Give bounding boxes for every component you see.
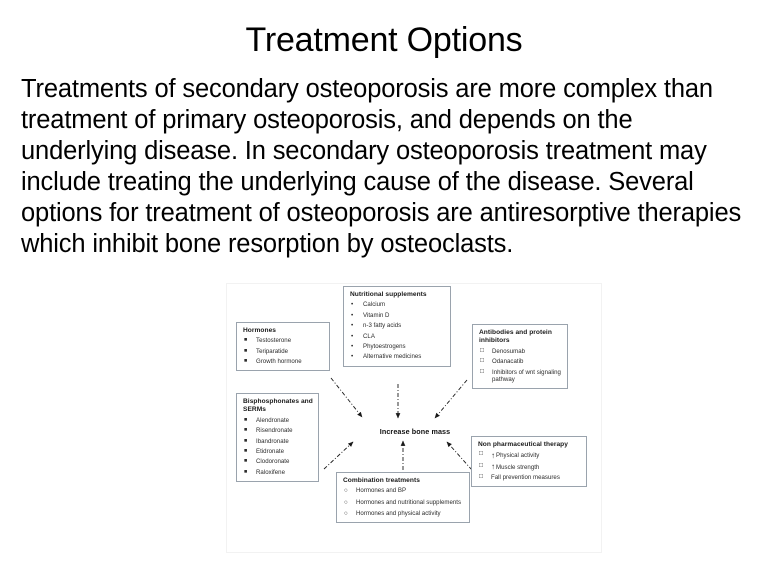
bullet-hollow-circle-icon: ○: [344, 499, 348, 506]
list-item: ■Risendronate: [243, 427, 313, 434]
treatment-options-diagram: Hormones ■Testosterone ■Teriparatide ■Gr…: [226, 283, 602, 553]
list-item-label: Growth hormone: [256, 358, 302, 365]
list-item: ■Testosterone: [243, 337, 324, 344]
bullet-filled-circle-icon: •: [351, 353, 353, 360]
list-item: ■Alendronate: [243, 417, 313, 424]
box-list: □↑Physical activity □↑Muscle strength □F…: [478, 451, 581, 481]
diagram-box-combination-treatments: Combination treatments ○Hormones and BP …: [336, 472, 470, 523]
box-title: Nutritional supplements: [350, 291, 445, 299]
arrow-antibodies-to-center: [435, 380, 467, 418]
list-item-label: Denosumab: [492, 348, 525, 355]
list-item-label: Vitamin D: [363, 312, 389, 319]
list-item-label: n-3 fatty acids: [363, 322, 401, 329]
bullet-hollow-square-icon: □: [479, 451, 483, 458]
list-item-label: Risendronate: [256, 427, 293, 434]
bullet-filled-circle-icon: •: [351, 343, 353, 350]
list-item-label: Testosterone: [256, 337, 291, 344]
list-item: ■Ibandronate: [243, 438, 313, 445]
list-item-label: CLA: [363, 333, 375, 340]
slide-body-text: Treatments of secondary osteoporosis are…: [21, 74, 753, 260]
diagram-box-non-pharmaceutical-therapy: Non pharmaceutical therapy □↑Physical ac…: [471, 436, 587, 487]
bullet-filled-square-icon: ■: [244, 448, 247, 455]
list-item-label: Odanacatib: [492, 358, 523, 365]
bullet-filled-square-icon: ■: [244, 337, 247, 344]
bullet-hollow-circle-icon: ○: [344, 510, 348, 517]
box-title: Hormones: [243, 327, 324, 335]
bullet-hollow-square-icon: □: [480, 369, 484, 376]
list-item-label: Alendronate: [256, 417, 289, 424]
diagram-center-label: Increase bone mass: [339, 427, 491, 436]
list-item-label: Phytoestrogens: [363, 343, 406, 350]
arrow-bisphosphonates-to-center: [324, 442, 353, 469]
bullet-filled-circle-icon: •: [351, 312, 353, 319]
list-item: ○Hormones and physical activity: [343, 510, 464, 517]
list-item-label: Hormones and physical activity: [356, 510, 441, 517]
arrow-hormones-to-center: [331, 378, 362, 417]
bullet-hollow-square-icon: □: [479, 463, 483, 470]
page-title: Treatment Options: [0, 20, 768, 60]
list-item: ■Teriparatide: [243, 348, 324, 355]
bullet-filled-square-icon: ■: [244, 348, 247, 355]
list-item: □↑Muscle strength: [478, 463, 581, 471]
box-title: Bisphosphonates and SERMs: [243, 398, 313, 415]
list-item: ■Etidronate: [243, 448, 313, 455]
list-item-label: Hormones and nutritional supplements: [356, 499, 461, 506]
list-item: □Odanacatib: [479, 358, 562, 365]
bullet-filled-square-icon: ■: [244, 458, 247, 465]
list-item-label: Hormones and BP: [356, 487, 406, 494]
list-item: •Alternative medicines: [350, 353, 445, 360]
list-item-label: Raloxifene: [256, 469, 285, 476]
list-item-label: Physical activity: [496, 452, 539, 459]
list-item: □↑Physical activity: [478, 451, 581, 459]
arrow-nonpharma-to-center: [447, 442, 472, 470]
box-list: ■Testosterone ■Teriparatide ■Growth horm…: [243, 337, 324, 365]
bullet-hollow-square-icon: □: [479, 474, 483, 481]
bullet-filled-circle-icon: •: [351, 333, 353, 340]
list-item: ■Raloxifene: [243, 469, 313, 476]
list-item-label: Fall prevention measures: [491, 474, 560, 481]
list-item: □Inhibitors of wnt signaling pathway: [479, 369, 562, 383]
list-item: ○Hormones and nutritional supplements: [343, 499, 464, 506]
box-list: •Calcium •Vitamin D •n-3 fatty acids •CL…: [350, 301, 445, 360]
list-item: ■Growth hormone: [243, 358, 324, 365]
bullet-filled-square-icon: ■: [244, 417, 247, 424]
diagram-box-antibodies-protein-inhibitors: Antibodies and protein inhibitors □Denos…: [472, 324, 568, 389]
list-item-label: Inhibitors of wnt signaling pathway: [492, 369, 561, 383]
bullet-filled-circle-icon: •: [351, 322, 353, 329]
bullet-filled-square-icon: ■: [244, 438, 247, 445]
list-item: •n-3 fatty acids: [350, 322, 445, 329]
list-item-label: Teriparatide: [256, 348, 288, 355]
list-item: ■Clodoronate: [243, 458, 313, 465]
box-title: Antibodies and protein inhibitors: [479, 329, 562, 346]
bullet-filled-square-icon: ■: [244, 358, 247, 365]
list-item: □Fall prevention measures: [478, 474, 581, 481]
list-item: •Phytoestrogens: [350, 343, 445, 350]
list-item-label: Clodoronate: [256, 458, 289, 465]
box-list: ■Alendronate ■Risendronate ■Ibandronate …: [243, 417, 313, 476]
list-item: □Denosumab: [479, 348, 562, 355]
bullet-hollow-circle-icon: ○: [344, 487, 348, 494]
up-arrow-icon: ↑: [491, 451, 495, 460]
list-item: ○Hormones and BP: [343, 487, 464, 494]
box-list: ○Hormones and BP ○Hormones and nutrition…: [343, 487, 464, 517]
bullet-hollow-square-icon: □: [480, 358, 484, 365]
box-title: Combination treatments: [343, 477, 464, 485]
list-item: •Vitamin D: [350, 312, 445, 319]
box-title: Non pharmaceutical therapy: [478, 441, 581, 449]
diagram-box-bisphosphonates-serms: Bisphosphonates and SERMs ■Alendronate ■…: [236, 393, 319, 482]
list-item: •CLA: [350, 333, 445, 340]
list-item-label: Alternative medicines: [363, 353, 421, 360]
list-item-label: Calcium: [363, 301, 385, 308]
box-list: □Denosumab □Odanacatib □Inhibitors of wn…: [479, 348, 562, 383]
bullet-filled-square-icon: ■: [244, 469, 247, 476]
diagram-box-hormones: Hormones ■Testosterone ■Teriparatide ■Gr…: [236, 322, 330, 371]
list-item-label: Etidronate: [256, 448, 284, 455]
list-item: •Calcium: [350, 301, 445, 308]
bullet-hollow-square-icon: □: [480, 348, 484, 355]
bullet-filled-square-icon: ■: [244, 427, 247, 434]
up-arrow-icon: ↑: [491, 462, 495, 471]
list-item-label: Ibandronate: [256, 438, 289, 445]
list-item-label: Muscle strength: [496, 464, 539, 471]
diagram-box-nutritional-supplements: Nutritional supplements •Calcium •Vitami…: [343, 286, 451, 367]
bullet-filled-circle-icon: •: [351, 301, 353, 308]
